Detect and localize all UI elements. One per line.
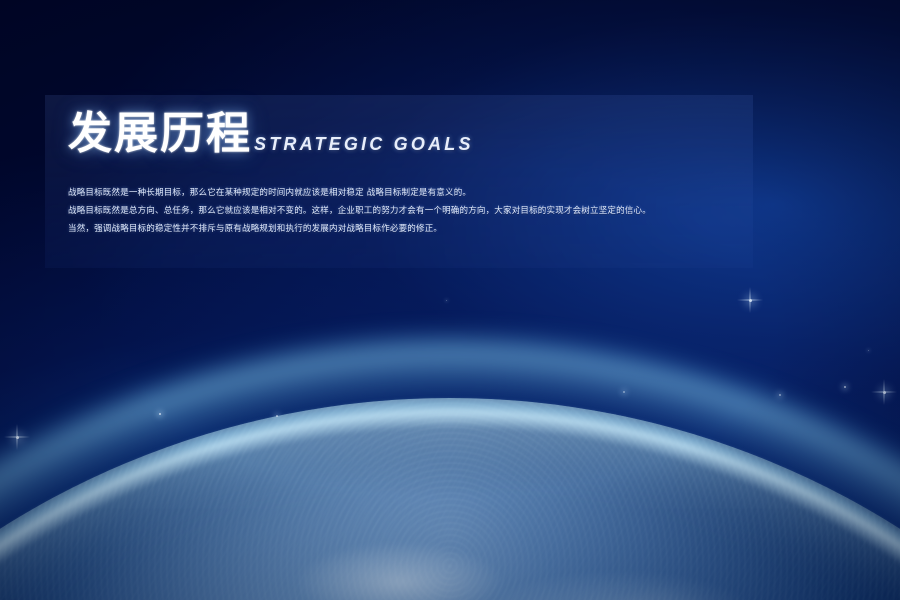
page-title: 发展历程 [68,112,252,156]
body-line: 战略目标既然是一种长期目标，那么它在某种规定的时间内就应该是相对稳定 战略目标制… [68,184,738,202]
body-line: 战略目标既然是总方向、总任务，那么它就应该是相对不变的。这样，企业职工的努力才会… [68,202,738,220]
body-line: 当然，强调战略目标的稳定性并不排斥与原有战略规划和执行的发展内对战略目标作必要的… [68,220,738,238]
space-background [0,0,900,600]
page-subtitle: STRATEGIC GOALS [254,135,474,156]
hero-banner: 发展历程 STRATEGIC GOALS 战略目标既然是一种长期目标，那么它在某… [0,0,900,600]
body-copy: 战略目标既然是一种长期目标，那么它在某种规定的时间内就应该是相对稳定 战略目标制… [68,184,738,238]
headline-block: 发展历程 STRATEGIC GOALS [68,112,474,156]
